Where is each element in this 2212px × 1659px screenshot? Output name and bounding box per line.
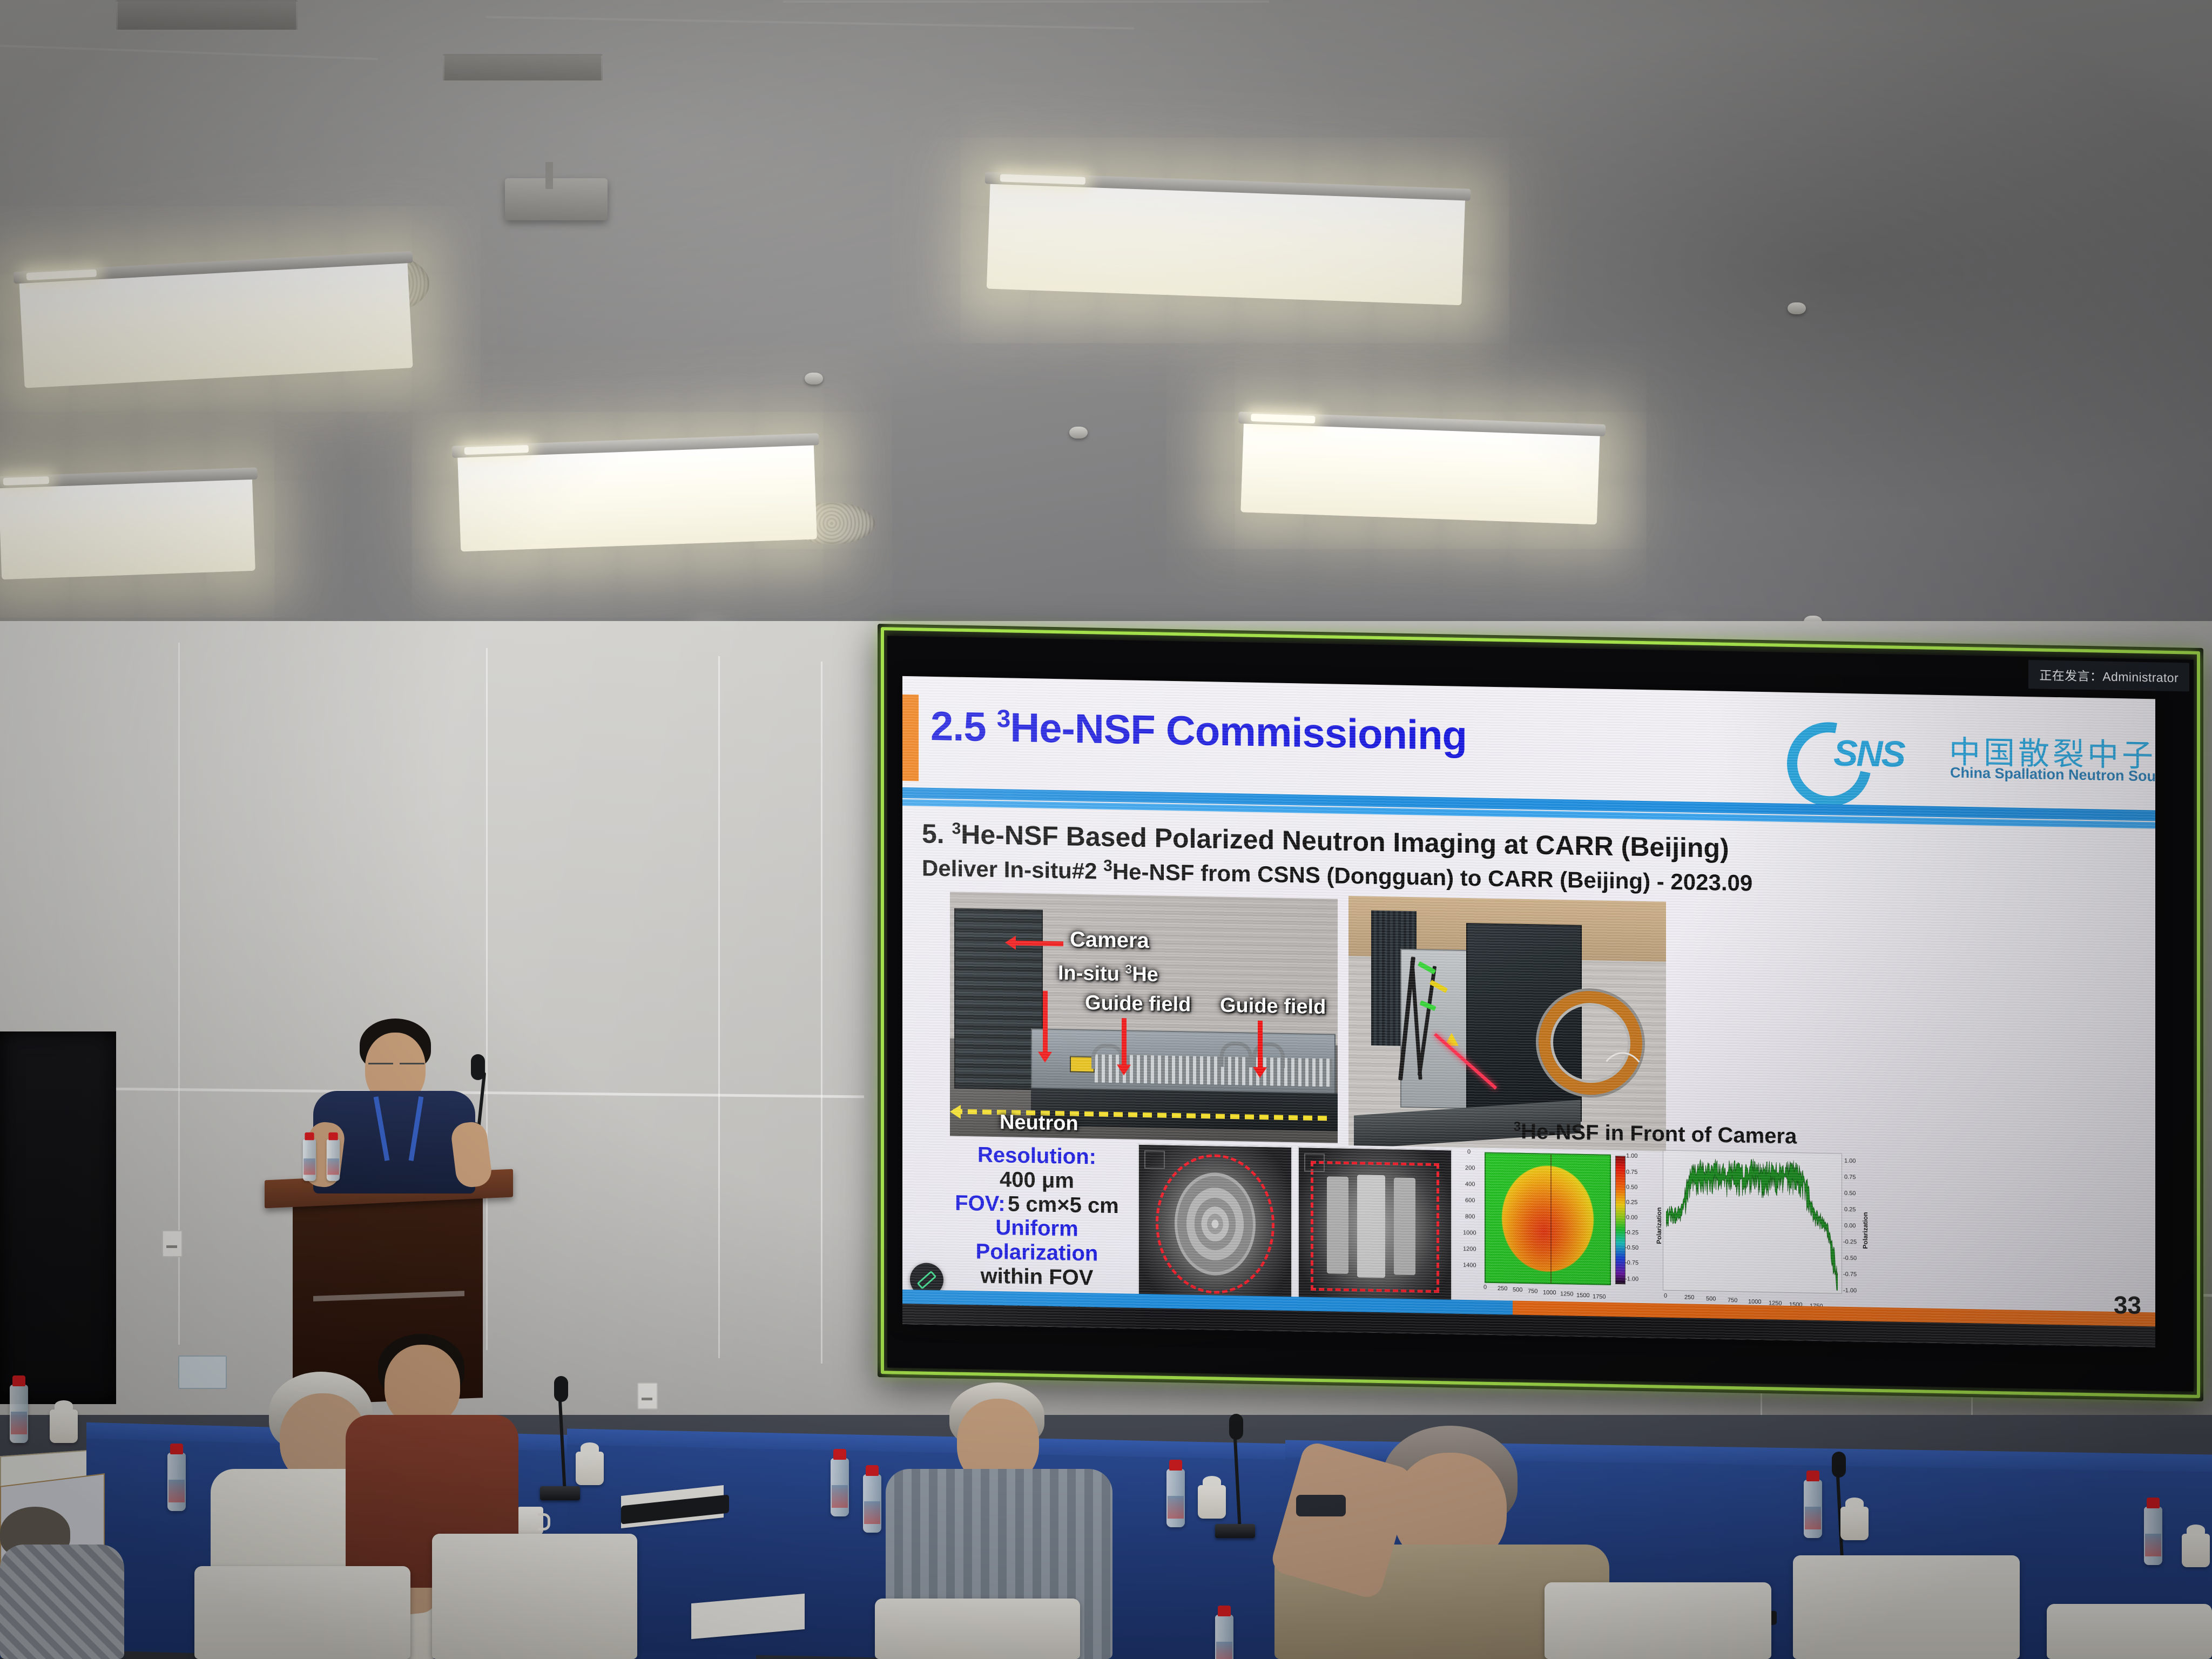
heatmap-center-line xyxy=(1550,1155,1552,1283)
lineplot-waveform xyxy=(1666,1152,1838,1291)
podium-microphone-head xyxy=(471,1054,485,1080)
heatmap-xtick: 500 xyxy=(1513,1287,1522,1293)
audience-torso xyxy=(0,1545,124,1659)
spec-block: Resolution: 400 μm FOV: 5 cm×5 cm Unifor… xyxy=(948,1142,1126,1315)
guide-field-arch xyxy=(1220,1042,1252,1068)
lineplot-ytick: -0.25 xyxy=(1843,1239,1857,1245)
chair xyxy=(875,1599,1080,1659)
in-situ-sup: 3 xyxy=(1125,962,1132,976)
beamline-photo: Camera In-situ 3He Guide field Guide fie… xyxy=(950,892,1338,1143)
lineplot-ytick: -1.00 xyxy=(1843,1287,1857,1294)
presentation-display[interactable]: 正在发言：Administrator 2.5 3He-NSF Commissio… xyxy=(878,624,2203,1401)
heatmap-plot-area xyxy=(1485,1152,1611,1285)
smoke-detector xyxy=(805,373,823,385)
smoke-detector xyxy=(1069,427,1088,439)
pen-glyph xyxy=(917,1270,937,1289)
heatmap-ytick: 0 xyxy=(1467,1149,1471,1155)
water-bottle[interactable] xyxy=(831,1458,849,1516)
teacup[interactable] xyxy=(50,1410,78,1443)
caption-main: He-NSF in Front of Camera xyxy=(1521,1120,1797,1148)
in-situ-pre: In-situ xyxy=(1058,962,1125,986)
heatmap-xtick: 1250 xyxy=(1560,1291,1573,1297)
water-bottle[interactable] xyxy=(1804,1480,1822,1538)
heatmap-xtick: 0 xyxy=(1483,1284,1487,1291)
heatmap-xtick: 250 xyxy=(1498,1285,1507,1292)
lineplot-ytick: 0.50 xyxy=(1844,1190,1856,1197)
lineplot-ytick: 0.00 xyxy=(1844,1223,1856,1229)
nsf-device-photo xyxy=(1348,896,1666,1151)
teacup[interactable] xyxy=(1840,1507,1869,1540)
chair xyxy=(2047,1604,2212,1659)
ceiling-projector-mount xyxy=(505,178,608,220)
fov-label: FOV: xyxy=(955,1191,1005,1216)
lineplot-ytick: 0.75 xyxy=(1844,1174,1856,1181)
water-bottle[interactable] xyxy=(2144,1507,2162,1565)
water-bottle[interactable] xyxy=(10,1385,28,1443)
ceiling-hatch xyxy=(443,54,603,82)
water-bottle[interactable] xyxy=(863,1474,881,1533)
heatmap-ytick: 1000 xyxy=(1463,1230,1476,1236)
colorbar-tick: 0.75 xyxy=(1626,1169,1637,1175)
audience-head xyxy=(385,1345,460,1426)
heatmap-xtick: 1500 xyxy=(1576,1292,1589,1299)
chair xyxy=(1545,1582,1771,1659)
heatmap-xtick: 750 xyxy=(1528,1288,1537,1294)
annotation-neutron: Neutron xyxy=(1000,1111,1078,1136)
camera-arrow-icon xyxy=(1016,941,1063,947)
mug[interactable] xyxy=(517,1507,543,1535)
lineplot-ylabel: Polarization xyxy=(1862,1212,1869,1249)
heatmap-xtick: 1750 xyxy=(1593,1293,1606,1300)
subheading-sup: 3 xyxy=(1103,857,1112,875)
wall-sign xyxy=(178,1355,227,1389)
ceiling-hatch xyxy=(116,0,298,31)
smoke-detector xyxy=(1788,302,1806,314)
csns-logo: SNS 中国散裂中子源 China Spallation Neutron Sou… xyxy=(1787,715,2143,797)
polarization-profile-chart: 0 250 500 750 1000 1250 1500 1750 X (ch)… xyxy=(1648,1148,1864,1318)
heatmap-ytick: 1200 xyxy=(1463,1246,1476,1252)
heatmap-colorbar xyxy=(1615,1156,1626,1284)
lineplot-xtick: 500 xyxy=(1706,1296,1716,1302)
neutron-beam-arrow-icon xyxy=(950,1104,961,1118)
heading-sup: 3 xyxy=(952,820,961,838)
teacup[interactable] xyxy=(576,1452,604,1485)
presenter-glasses xyxy=(400,1063,424,1064)
subheading-pre: Deliver In-situ#2 xyxy=(922,855,1103,884)
colorbar-tick: -0.50 xyxy=(1625,1244,1638,1251)
radiograph-corner-marker xyxy=(1304,1153,1325,1172)
doorway xyxy=(0,1031,116,1404)
share-status-banner: 正在发言：Administrator xyxy=(2028,660,2189,691)
slide-title-sup: 3 xyxy=(997,704,1010,732)
in-situ-he-arrow-icon xyxy=(1043,991,1048,1053)
heatmap-ytick: 200 xyxy=(1465,1165,1475,1171)
uniform-label: Uniform xyxy=(948,1215,1126,1243)
csns-logo-mark: SNS xyxy=(1833,732,1904,775)
heatmap-xtick: 1000 xyxy=(1543,1290,1556,1296)
lineplot-ytick: 0.25 xyxy=(1844,1206,1856,1213)
teacup[interactable] xyxy=(1198,1485,1226,1519)
wristwatch xyxy=(1296,1495,1346,1516)
polarization-heatmap-chart: 0 200 400 600 800 1000 1200 1400 0 250 5… xyxy=(1463,1149,1625,1313)
within-fov-label: within FOV xyxy=(948,1263,1126,1291)
colorbar-tick: 1.00 xyxy=(1626,1152,1637,1159)
microphone-base xyxy=(1215,1524,1255,1538)
csns-logo-english: China Spallation Neutron Source xyxy=(1950,764,2155,785)
ceiling-panel-light xyxy=(0,476,255,579)
heatmap-ytick: 400 xyxy=(1465,1181,1475,1188)
projector-rod xyxy=(545,162,553,189)
ceiling-panel-light xyxy=(1240,421,1600,525)
resolution-value: 400 μm xyxy=(948,1166,1126,1194)
slide-section-title: 2.5 3He-NSF Commissioning xyxy=(930,703,1467,760)
slide-title-prefix: 2.5 xyxy=(930,703,997,750)
display-panel: 正在发言：Administrator 2.5 3He-NSF Commissio… xyxy=(887,636,2194,1391)
colorbar-tick: -0.75 xyxy=(1625,1259,1638,1266)
heatmap-ytick: 800 xyxy=(1465,1213,1475,1220)
presenter-glasses xyxy=(368,1063,393,1064)
subheading-main: He-NSF from CSNS (Dongguan) to CARR (Bei… xyxy=(1112,859,1752,896)
fov-line: FOV: 5 cm×5 cm xyxy=(948,1191,1126,1218)
lineplot-ytick: -0.50 xyxy=(1843,1255,1857,1262)
neutron-radiograph-2 xyxy=(1298,1147,1452,1307)
annotation-guide-field-2: Guide field xyxy=(1220,994,1326,1020)
guide-field-arrow-icon-1 xyxy=(1122,1018,1127,1065)
ceiling-panel-light xyxy=(19,260,413,388)
lineplot-xtick: 250 xyxy=(1684,1294,1694,1300)
heatmap-ytick: 600 xyxy=(1465,1197,1475,1204)
table-microphone-head xyxy=(1229,1414,1243,1440)
slide-page-number: 33 xyxy=(2114,1290,2141,1320)
chair xyxy=(432,1534,637,1659)
neutron-radiograph-1 xyxy=(1138,1144,1292,1304)
slide-title-main: He-NSF Commissioning xyxy=(1010,705,1467,759)
microphone-base xyxy=(540,1486,580,1500)
ceiling-seam xyxy=(783,1,1269,3)
heatmap-noise xyxy=(1486,1154,1610,1284)
table-microphone-head xyxy=(1832,1452,1846,1478)
heatmap-ytick: 1400 xyxy=(1463,1262,1476,1269)
heading-number: 5. xyxy=(922,819,952,849)
caption-sup: 3 xyxy=(1514,1120,1521,1134)
lineplot-xtick: 750 xyxy=(1728,1297,1737,1304)
wall-outlet xyxy=(637,1382,658,1410)
colorbar-tick: -0.25 xyxy=(1625,1229,1638,1236)
wall-seam xyxy=(718,656,720,1358)
in-situ-post: He xyxy=(1132,963,1158,986)
slide-content: 2.5 3He-NSF Commissioning SNS 中国散裂中子源 Ch… xyxy=(902,676,2155,1347)
lineplot-xtick: 0 xyxy=(1664,1293,1667,1299)
water-bottle[interactable] xyxy=(303,1139,316,1181)
wall-seam xyxy=(821,662,822,1364)
resolution-label: Resolution: xyxy=(948,1142,1126,1170)
lineplot-xtick: 1000 xyxy=(1748,1299,1761,1305)
colorbar-tick: 0.50 xyxy=(1626,1184,1637,1190)
water-bottle[interactable] xyxy=(327,1139,340,1181)
conference-room-scene: 正在发言：Administrator 2.5 3He-NSF Commissio… xyxy=(0,0,2212,1659)
camera-housing xyxy=(954,908,1043,1090)
guide-field-arrow-icon-2 xyxy=(1258,1021,1263,1068)
water-bottle[interactable] xyxy=(1166,1469,1185,1527)
polarization-label: Polarization xyxy=(948,1239,1126,1267)
annotation-guide-field-1: Guide field xyxy=(1085,992,1191,1017)
radiograph-corner-marker xyxy=(1144,1150,1165,1169)
water-bottle[interactable] xyxy=(1215,1615,1233,1659)
colorbar-tick: -1.00 xyxy=(1625,1276,1638,1282)
teacup[interactable] xyxy=(2182,1534,2210,1567)
wall-outlet xyxy=(162,1230,183,1257)
annotation-in-situ-he: In-situ 3He xyxy=(1058,961,1158,987)
table-microphone-head xyxy=(554,1376,568,1402)
fov-marker-rect xyxy=(1311,1161,1439,1293)
water-bottle[interactable] xyxy=(167,1453,186,1511)
lineplot-ytick: 1.00 xyxy=(1844,1158,1856,1164)
slide-orange-accent xyxy=(902,694,919,781)
fov-value: 5 cm×5 cm xyxy=(1008,1192,1119,1218)
ceiling-panel-light xyxy=(457,442,817,552)
colorbar-tick: 0.25 xyxy=(1626,1199,1637,1205)
guide-field-arch xyxy=(1252,1042,1285,1068)
ceiling-panel-light xyxy=(987,181,1465,306)
chair xyxy=(194,1566,410,1659)
colorbar-tick: 0.00 xyxy=(1626,1214,1637,1220)
chair xyxy=(1793,1555,2020,1659)
annotation-camera: Camera xyxy=(1070,928,1149,954)
lineplot-ytick: -0.75 xyxy=(1843,1271,1857,1278)
white-tubing xyxy=(1597,1051,1649,1126)
